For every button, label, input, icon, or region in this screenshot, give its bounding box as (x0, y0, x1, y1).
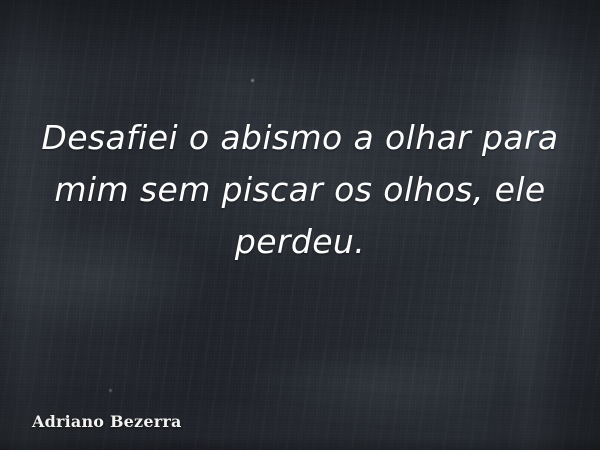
quote-line: perdeu. (30, 216, 570, 268)
quote-card: Desafiei o abismo a olhar para mim sem p… (0, 0, 600, 450)
card-content: Desafiei o abismo a olhar para mim sem p… (0, 0, 600, 450)
quote-line: mim sem piscar os olhos, ele (30, 164, 570, 216)
author-name: Adriano Bezerra (32, 412, 182, 431)
quote-text-block: Desafiei o abismo a olhar para mim sem p… (30, 112, 570, 268)
quote-line: Desafiei o abismo a olhar para (30, 112, 570, 164)
